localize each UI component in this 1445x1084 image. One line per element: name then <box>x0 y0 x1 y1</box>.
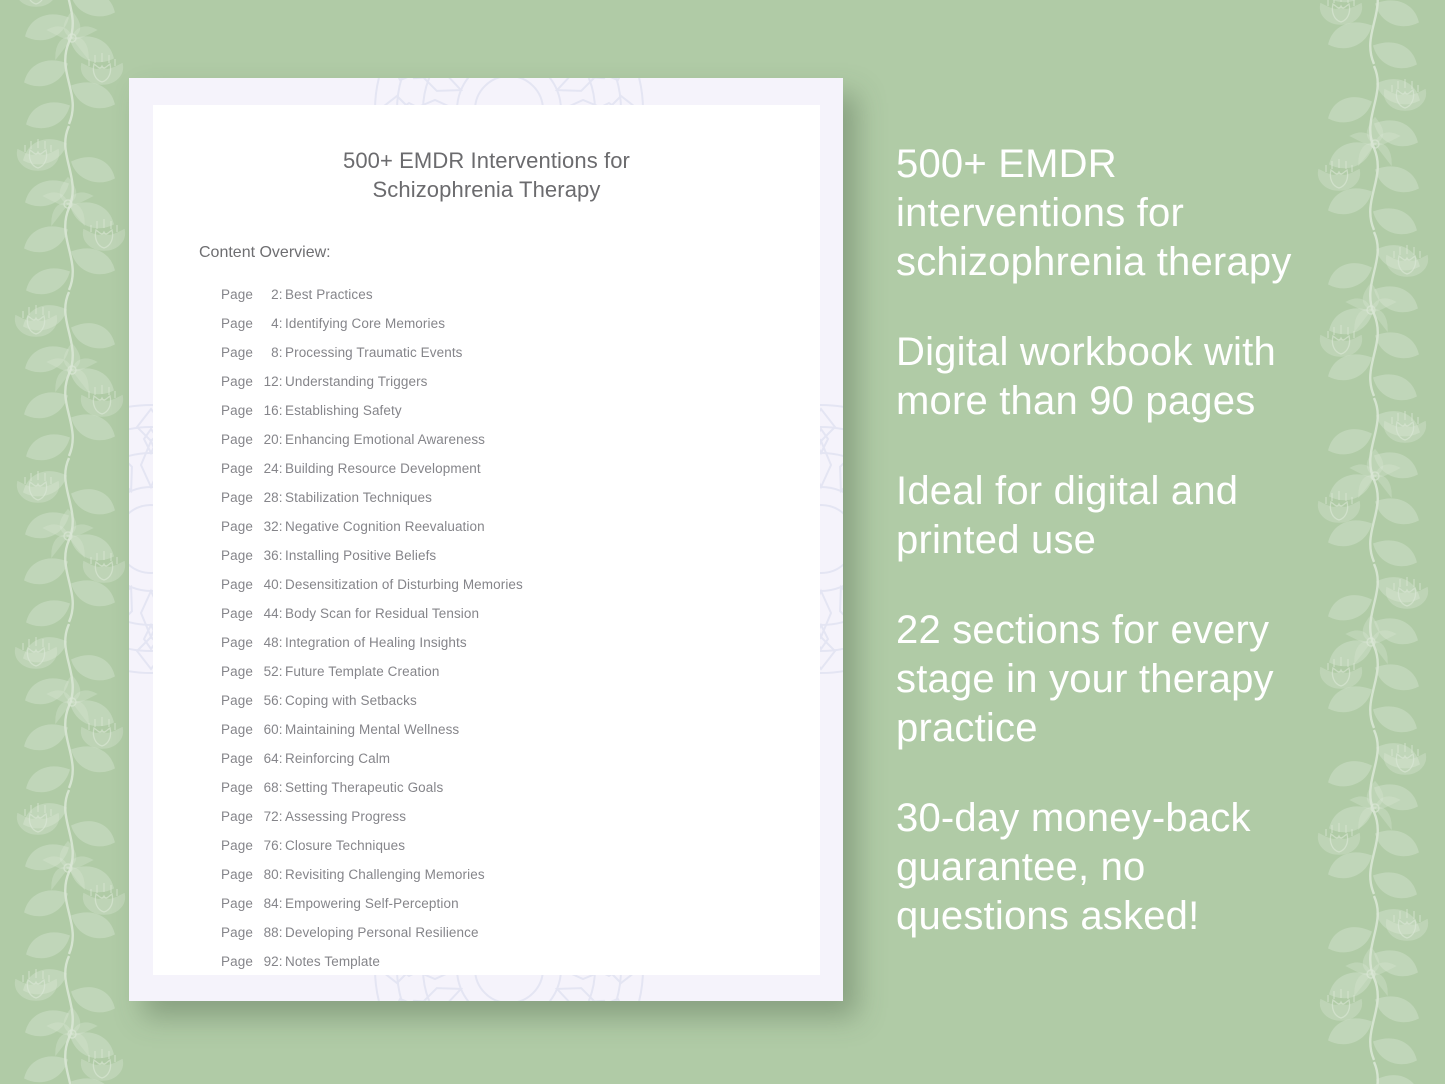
toc-entry-title: Installing Positive Beliefs <box>285 541 436 570</box>
toc-entry: Page 24: Building Resource Development <box>221 454 820 483</box>
toc-entry-title: Negative Cognition Reevaluation <box>285 512 485 541</box>
toc-entry-page: Page 52: <box>221 657 285 686</box>
toc-entry-title: Notes Template <box>285 947 380 976</box>
toc-entry-page: Page 28: <box>221 483 285 512</box>
toc-page-number: 88 <box>257 918 279 947</box>
toc-page-label: Page <box>221 432 257 447</box>
toc-page-number: 52 <box>257 657 279 686</box>
toc-page-number: 76 <box>257 831 279 860</box>
toc-page-label: Page <box>221 809 257 824</box>
toc-entry-title: Best Practices <box>285 280 373 309</box>
toc-entry: Page 64: Reinforcing Calm <box>221 744 820 773</box>
toc-entry-page: Page 24: <box>221 454 285 483</box>
doc-title-line-1: 500+ EMDR Interventions for <box>343 148 630 173</box>
toc-entry-title: Closure Techniques <box>285 831 405 860</box>
toc-page-label: Page <box>221 635 257 650</box>
toc-page-label: Page <box>221 287 257 302</box>
toc-page-label: Page <box>221 577 257 592</box>
toc-page-label: Page <box>221 345 257 360</box>
doc-title-line-2: Schizophrenia Therapy <box>373 177 601 202</box>
toc-entry: Page 40: Desensitization of Disturbing M… <box>221 570 820 599</box>
toc-page-label: Page <box>221 693 257 708</box>
promo-copy: 500+ EMDR interventions for schizophreni… <box>896 140 1326 941</box>
toc-entry-title: Establishing Safety <box>285 396 402 425</box>
toc-entry-page: Page 76: <box>221 831 285 860</box>
toc-entry-page: Page 32: <box>221 512 285 541</box>
toc-entry: Page 48: Integration of Healing Insights <box>221 628 820 657</box>
promo-line: Ideal for digital and printed use <box>896 467 1326 565</box>
toc-entry-title: Assessing Progress <box>285 802 406 831</box>
toc-entry-page: Page 80: <box>221 860 285 889</box>
toc-entry-page: Page 8: <box>221 338 285 367</box>
toc-entry-page: Page 48: <box>221 628 285 657</box>
toc-entry-title: Stabilization Techniques <box>285 483 432 512</box>
toc-entry-page: Page 12: <box>221 367 285 396</box>
toc-page-label: Page <box>221 316 257 331</box>
toc-page-number: 12 <box>257 367 279 396</box>
toc-entry: Page 32: Negative Cognition Reevaluation <box>221 512 820 541</box>
promo-line: 30-day money-back guarantee, no question… <box>896 794 1326 941</box>
toc-entry-title: Body Scan for Residual Tension <box>285 599 479 628</box>
toc-page-label: Page <box>221 461 257 476</box>
toc-entry-page: Page 40: <box>221 570 285 599</box>
toc-entry: Page 88: Developing Personal Resilience <box>221 918 820 947</box>
toc-entry-title: Future Template Creation <box>285 657 439 686</box>
toc-page-number: 36 <box>257 541 279 570</box>
toc-entry-title: Desensitization of Disturbing Memories <box>285 570 523 599</box>
toc-page-number: 80 <box>257 860 279 889</box>
toc-entry: Page 36: Installing Positive Beliefs <box>221 541 820 570</box>
promo-line: Digital workbook with more than 90 pages <box>896 328 1326 426</box>
promo-line: 500+ EMDR interventions for schizophreni… <box>896 140 1326 287</box>
toc-page-label: Page <box>221 838 257 853</box>
toc-page-label: Page <box>221 374 257 389</box>
toc-page-number: 28 <box>257 483 279 512</box>
toc-entry-page: Page 68: <box>221 773 285 802</box>
toc-page-label: Page <box>221 519 257 534</box>
toc-entry-title: Processing Traumatic Events <box>285 338 463 367</box>
toc-page-label: Page <box>221 925 257 940</box>
toc-entry-title: Coping with Setbacks <box>285 686 417 715</box>
toc-page-number: 20 <box>257 425 279 454</box>
toc-page-number: 92 <box>257 947 279 976</box>
toc-page-label: Page <box>221 548 257 563</box>
toc-page-label: Page <box>221 751 257 766</box>
toc-entry: Page 4: Identifying Core Memories <box>221 309 820 338</box>
toc-entry-page: Page 88: <box>221 918 285 947</box>
toc-entry-title: Empowering Self-Perception <box>285 889 459 918</box>
toc-entry: Page 12: Understanding Triggers <box>221 367 820 396</box>
toc-page-number: 44 <box>257 599 279 628</box>
toc-page-label: Page <box>221 896 257 911</box>
toc-entry-page: Page 72: <box>221 802 285 831</box>
toc-entry-page: Page 20: <box>221 425 285 454</box>
toc-page-number: 72 <box>257 802 279 831</box>
toc-page-number: 60 <box>257 715 279 744</box>
toc-entry-page: Page 84: <box>221 889 285 918</box>
toc-entry-title: Setting Therapeutic Goals <box>285 773 443 802</box>
toc-entry-page: Page 36: <box>221 541 285 570</box>
toc-entry-page: Page 16: <box>221 396 285 425</box>
content-overview-label: Content Overview: <box>199 244 820 262</box>
toc-entry-page: Page 64: <box>221 744 285 773</box>
toc-page-number: 84 <box>257 889 279 918</box>
product-mockup-card: 500+ EMDR Interventions for Schizophreni… <box>129 78 843 1001</box>
toc-page-number: 48 <box>257 628 279 657</box>
toc-entry: Page 80: Revisiting Challenging Memories <box>221 860 820 889</box>
toc-entry-title: Reinforcing Calm <box>285 744 390 773</box>
toc-entry: Page 84: Empowering Self-Perception <box>221 889 820 918</box>
toc-entry-title: Maintaining Mental Wellness <box>285 715 459 744</box>
toc-entry: Page 8: Processing Traumatic Events <box>221 338 820 367</box>
toc-entry-title: Integration of Healing Insights <box>285 628 467 657</box>
toc-page-label: Page <box>221 780 257 795</box>
toc-entry-page: Page 56: <box>221 686 285 715</box>
toc-page-number: 24 <box>257 454 279 483</box>
toc-page-label: Page <box>221 664 257 679</box>
toc-page-number: 56 <box>257 686 279 715</box>
toc-page-number: 32 <box>257 512 279 541</box>
promo-line: 22 sections for every stage in your ther… <box>896 606 1326 753</box>
toc-entry: Page 92: Notes Template <box>221 947 820 976</box>
toc-entry-page: Page 2: <box>221 280 285 309</box>
toc-page-label: Page <box>221 867 257 882</box>
toc-page-number: 64 <box>257 744 279 773</box>
toc-entry-title: Revisiting Challenging Memories <box>285 860 485 889</box>
toc-entry: Page 44: Body Scan for Residual Tension <box>221 599 820 628</box>
toc-entry-page: Page 4: <box>221 309 285 338</box>
toc-entry: Page 76: Closure Techniques <box>221 831 820 860</box>
toc-entry: Page 56: Coping with Setbacks <box>221 686 820 715</box>
toc-entry: Page 60: Maintaining Mental Wellness <box>221 715 820 744</box>
toc-entry-title: Developing Personal Resilience <box>285 918 479 947</box>
toc-entry-page: Page 44: <box>221 599 285 628</box>
toc-entry: Page 72: Assessing Progress <box>221 802 820 831</box>
toc-page-number: 16 <box>257 396 279 425</box>
toc-page-label: Page <box>221 722 257 737</box>
table-of-contents: Page 2: Best PracticesPage 4: Identifyin… <box>221 280 820 976</box>
toc-entry: Page 52: Future Template Creation <box>221 657 820 686</box>
toc-entry: Page 20: Enhancing Emotional Awareness <box>221 425 820 454</box>
toc-entry-title: Building Resource Development <box>285 454 481 483</box>
toc-entry-page: Page 92: <box>221 947 285 976</box>
toc-entry: Page 68: Setting Therapeutic Goals <box>221 773 820 802</box>
toc-page-label: Page <box>221 606 257 621</box>
toc-entry-title: Enhancing Emotional Awareness <box>285 425 485 454</box>
toc-page-label: Page <box>221 954 257 969</box>
floral-vine-icon <box>0 0 144 1084</box>
toc-page-number: 2 <box>257 280 279 309</box>
toc-page-number: 68 <box>257 773 279 802</box>
toc-page-label: Page <box>221 490 257 505</box>
toc-page-number: 40 <box>257 570 279 599</box>
toc-entry-page: Page 60: <box>221 715 285 744</box>
document-page: 500+ EMDR Interventions for Schizophreni… <box>153 105 820 975</box>
toc-page-number: 8 <box>257 338 279 367</box>
toc-entry-title: Understanding Triggers <box>285 367 428 396</box>
toc-entry: Page 2: Best Practices <box>221 280 820 309</box>
toc-entry: Page 16: Establishing Safety <box>221 396 820 425</box>
toc-entry-title: Identifying Core Memories <box>285 309 445 338</box>
toc-page-number: 4 <box>257 309 279 338</box>
toc-entry: Page 28: Stabilization Techniques <box>221 483 820 512</box>
page-title: 500+ EMDR Interventions for Schizophreni… <box>153 146 820 204</box>
toc-page-label: Page <box>221 403 257 418</box>
